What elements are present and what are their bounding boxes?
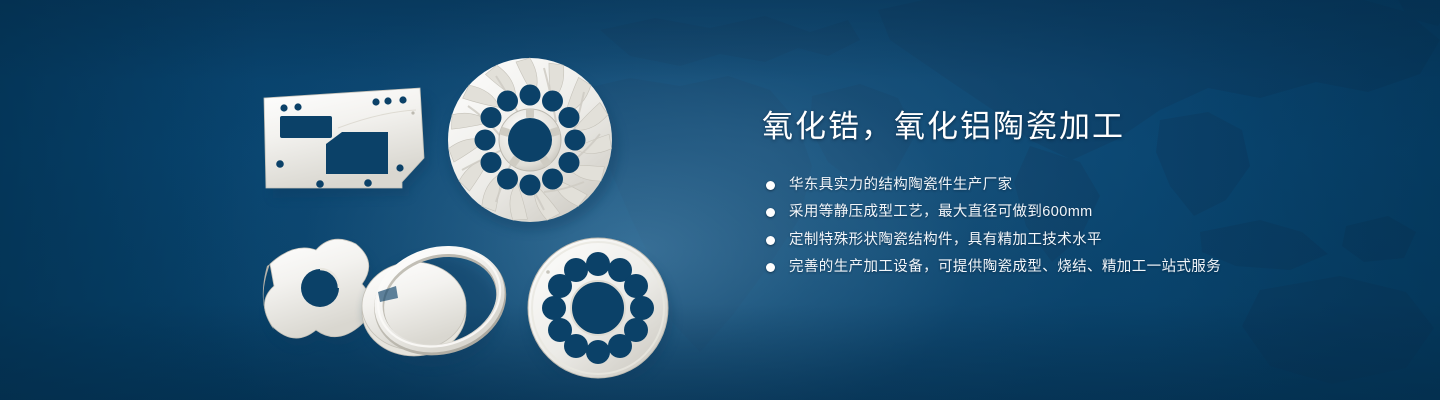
ceramic-machined-plate [264,88,431,198]
banner-copy: 氧化锆，氧化铝陶瓷加工 华东具实力的结构陶瓷件生产厂家 采用等静压成型工艺，最大… [762,108,1382,276]
list-item: 华东具实力的结构陶瓷件生产厂家 [766,177,1382,194]
ceramic-cross-vane [263,239,375,346]
bullet-dot-icon [766,263,775,272]
bullet-dot-icon [766,236,775,245]
feature-text: 完善的生产加工设备，可提供陶瓷成型、烧结、精加工一站式服务 [789,259,1221,276]
feature-text: 定制特殊形状陶瓷结构件，具有精加工技术水平 [789,232,1102,249]
bullet-dot-icon [766,181,775,190]
ceramic-ring-and-disc [362,234,513,367]
list-item: 完善的生产加工设备，可提供陶瓷成型、烧结、精加工一站式服务 [766,259,1382,276]
ceramic-valve-plate [528,238,673,380]
ceramic-impeller-rotor [447,58,619,231]
ceramic-processing-banner: 氧化锆，氧化铝陶瓷加工 华东具实力的结构陶瓷件生产厂家 采用等静压成型工艺，最大… [0,0,1440,400]
bullet-dot-icon [766,208,775,217]
list-item: 采用等静压成型工艺，最大直径可做到600mm [766,204,1382,221]
list-item: 定制特殊形状陶瓷结构件，具有精加工技术水平 [766,232,1382,249]
feature-text: 华东具实力的结构陶瓷件生产厂家 [789,177,1013,194]
feature-text: 采用等静压成型工艺，最大直径可做到600mm [789,204,1093,221]
page-title: 氧化锆，氧化铝陶瓷加工 [762,108,1382,147]
feature-list: 华东具实力的结构陶瓷件生产厂家 采用等静压成型工艺，最大直径可做到600mm 定… [766,177,1382,277]
ceramic-products-group [230,40,710,380]
